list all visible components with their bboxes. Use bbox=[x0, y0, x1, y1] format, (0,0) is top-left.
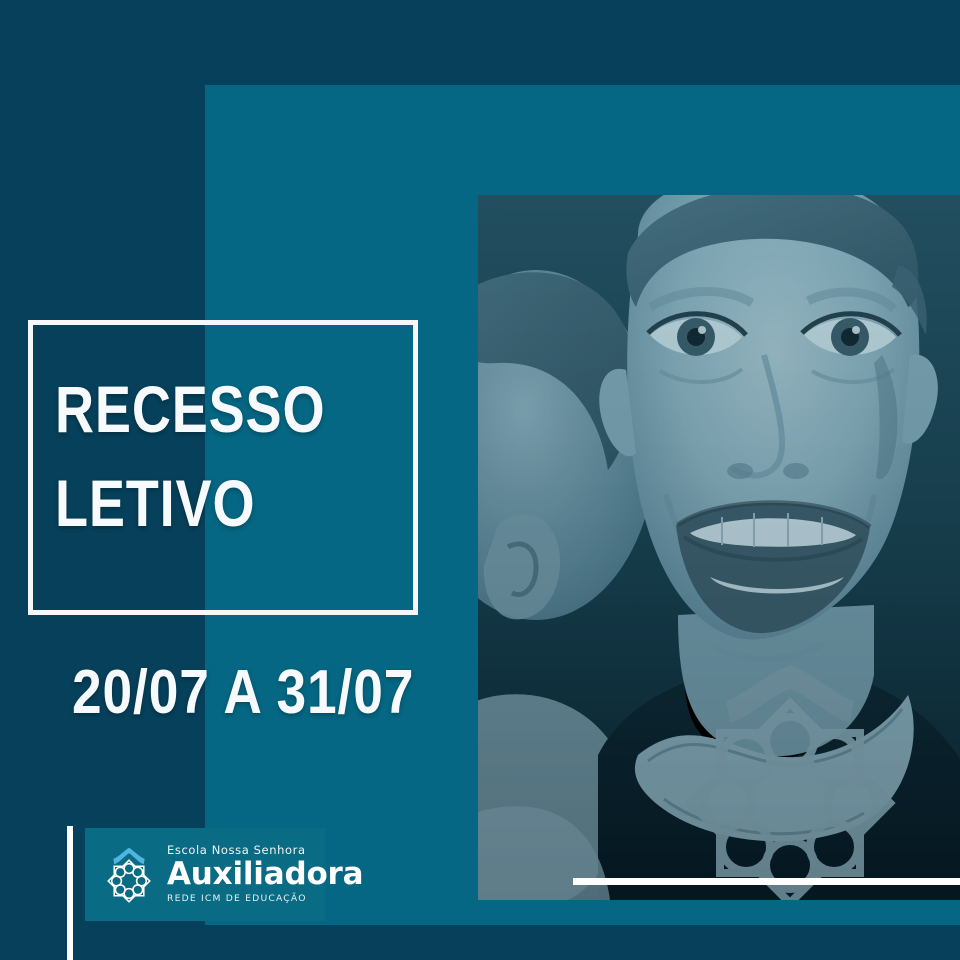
accent-rule bbox=[573, 878, 960, 885]
poster-canvas: RECESSO LETIVO 20/07 A 31/07 bbox=[0, 0, 960, 960]
logo-main-line: Auxiliadora bbox=[167, 858, 363, 891]
school-logo: Escola Nossa Senhora Auxiliadora REDE IC… bbox=[85, 828, 325, 921]
logo-wordmark: Escola Nossa Senhora Auxiliadora REDE IC… bbox=[167, 844, 363, 905]
headline-line-1: RECESSO bbox=[55, 372, 325, 446]
photo-artwork bbox=[478, 195, 960, 900]
logo-sub-line: REDE ICM DE EDUCAÇÃO bbox=[167, 893, 363, 905]
student-photo bbox=[478, 195, 960, 900]
footer-accent-bar bbox=[67, 826, 73, 960]
rosette-star-emblem-icon bbox=[101, 845, 157, 905]
page-title: RECESSO LETIVO bbox=[55, 362, 383, 550]
date-range: 20/07 A 31/07 bbox=[72, 657, 414, 729]
headline-line-2: LETIVO bbox=[55, 456, 383, 550]
